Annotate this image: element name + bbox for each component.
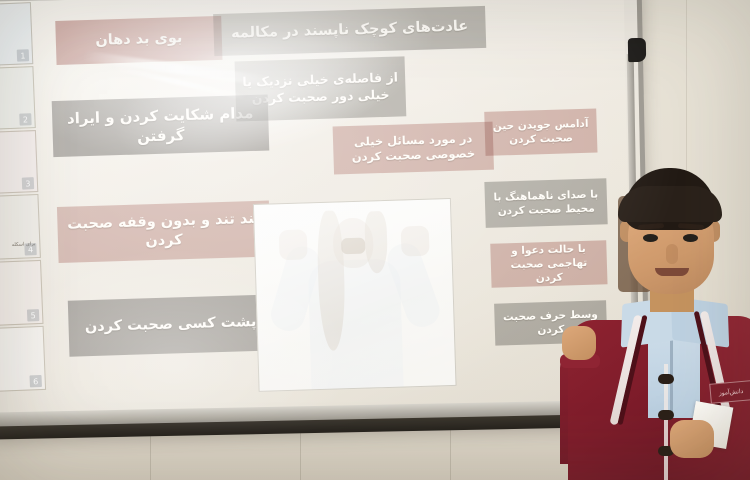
badge-label: دانش‌آموز [710, 381, 750, 402]
glare-streak-2 [110, 64, 248, 100]
student-toggle-2 [658, 410, 674, 420]
student-hair-fringe [618, 186, 722, 222]
figure-head [332, 217, 374, 268]
figure-torso [308, 259, 404, 390]
slide-box-bad-breath: بوی بد دهان [55, 16, 222, 65]
projected-slide: عادت‌های کوچک ناپسند در مکالمه بوی بد ده… [33, 0, 617, 405]
figure-right-arm [383, 239, 444, 331]
thumbnail-1[interactable]: 1 [0, 2, 33, 66]
thumbnail-number: 2 [19, 113, 31, 125]
student-nose [666, 244, 678, 264]
classroom-photo: 1 2 3 برای اسکله 4 5 [0, 0, 750, 480]
thumbnail-3[interactable]: 3 [0, 130, 38, 194]
whiteboard-corner-cap [628, 38, 646, 62]
thumbnail-number: 1 [17, 49, 29, 61]
figure-face [341, 238, 365, 255]
slide-box-gossip: پشت کسی صحبت کردن [68, 294, 274, 356]
student-mouth [655, 268, 689, 276]
projected-slide-area [0, 0, 632, 414]
student-uniform-badge: دانش‌آموز [709, 380, 750, 404]
whiteboard-surface: 1 2 3 برای اسکله 4 5 [0, 0, 645, 431]
slide-box-chewing-gum: آدامس جویدن حین صحبت کردن [484, 108, 597, 155]
tile-line-3 [450, 424, 451, 480]
student-raised-fist [562, 326, 596, 360]
photo-projection-wash [254, 199, 456, 391]
projector-glare-top [6, 0, 451, 189]
thumbnail-number: 3 [22, 177, 34, 189]
figure-right-fist [401, 226, 430, 257]
projector-glare-mid [98, 0, 419, 193]
thumbnail-wash [0, 131, 37, 193]
student-figure: دانش‌آموز [566, 168, 750, 480]
thumbnail-6[interactable]: 6 [0, 326, 46, 392]
figure-hair-right [364, 211, 388, 274]
thumbnail-wash [0, 195, 40, 259]
figure-left-arm [267, 243, 324, 335]
thumbnail-number: 5 [27, 309, 39, 321]
slide-box-distance: از فاصله‌ی خیلی نزدیک یا خیلی دور صحبت ک… [235, 56, 407, 121]
thumbnail-4[interactable]: برای اسکله 4 [0, 194, 41, 260]
student-eye-left [643, 234, 658, 242]
thumbnail-wash [0, 67, 35, 129]
thumbnail-5[interactable]: 5 [0, 260, 43, 326]
whiteboard: 1 2 3 برای اسکله 4 5 [0, 0, 650, 437]
student-right-hand [670, 420, 714, 458]
thumbnail-2[interactable]: 2 [0, 66, 36, 130]
slide-thumbnail-strip[interactable]: 1 2 3 برای اسکله 4 5 [0, 0, 49, 418]
slide-box-fast-talking: تند تند و بدون وقفه صحبت کردن [57, 201, 271, 263]
glare-streak-1 [83, 51, 273, 87]
student-eye-right [683, 234, 698, 242]
thumbnail-wash [0, 3, 32, 65]
figure-left-fist [279, 229, 308, 260]
slide-box-private-topics: در مورد مسائل خیلی خصوصی صحبت کردن [333, 122, 494, 175]
projector-glare-low [0, 244, 356, 431]
slide-box-complaining: مدام شکایت کردن و ایراد گرفتن [52, 95, 270, 158]
slide-photo-frustrated-woman [253, 198, 457, 392]
thumbnail-wash [0, 261, 42, 325]
thumbnail-4-caption: برای اسکله [12, 241, 36, 248]
figure-hair-left [316, 210, 346, 351]
thumbnail-number: 4 [24, 243, 36, 255]
thumbnail-wash [0, 327, 45, 391]
student-toggle-1 [658, 374, 674, 384]
slide-title: عادت‌های کوچک ناپسند در مکالمه [213, 6, 486, 56]
thumbnail-number: 6 [30, 375, 42, 387]
